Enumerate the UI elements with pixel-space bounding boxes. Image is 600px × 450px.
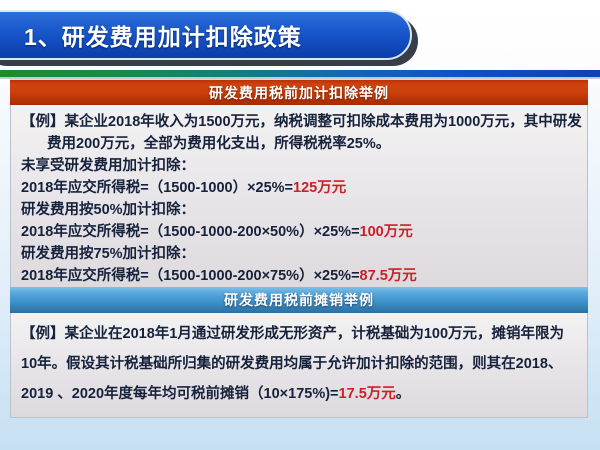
amortization-content-panel: 【例】某企业在2018年1月通过研发形成无形资产，计税基础为100万元，摊销年限… [10, 313, 588, 418]
section-header-deduction: 研发费用税前加计扣除举例 [10, 79, 588, 105]
section-header-amortization-label: 研发费用税前摊销举例 [224, 290, 374, 310]
amortization-formula-text: 2019 、2020年度每年均可税前摊销（10×175%)= [21, 386, 339, 402]
deduction-line-50-label: 研发费用按50%加计扣除： [21, 199, 579, 221]
deduction-formula-50: 2018年应交所得税=（1500-1000-200×50%）×25%=100万元 [21, 221, 579, 243]
deduction-line-3: 未享受研发费用加计扣除： [21, 155, 579, 177]
deduction-formula-none: 2018年应交所得税=（1500-1000）×25%=125万元 [21, 177, 579, 199]
deduction-formula-75: 2018年应交所得税=（1500-1000-200×75%）×25%=87.5万… [21, 265, 579, 287]
section-deduction-example: 研发费用税前加计扣除举例 【例】某企业2018年收入为1500万元，纳税调整可扣… [10, 79, 588, 295]
deduction-formula-none-text: 2018年应交所得税=（1500-1000）×25%= [21, 180, 293, 196]
gradient-divider [0, 70, 600, 77]
section-amortization-example: 研发费用税前摊销举例 【例】某企业在2018年1月通过研发形成无形资产，计税基础… [10, 287, 588, 418]
deduction-content-panel: 【例】某企业2018年收入为1500万元，纳税调整可扣除成本费用为1000万元，… [10, 105, 588, 295]
section-header-deduction-label: 研发费用税前加计扣除举例 [209, 83, 389, 103]
amortization-line-3: 2019 、2020年度每年均可税前摊销（10×175%)=17.5万元。 [21, 379, 579, 409]
deduction-result-50: 100万元 [360, 224, 413, 240]
page-title: 1、研发费用加计扣除政策 [24, 18, 302, 52]
deduction-formula-75-text: 2018年应交所得税=（1500-1000-200×75%）×25%= [21, 268, 360, 284]
deduction-formula-50-text: 2018年应交所得税=（1500-1000-200×50%）×25%= [21, 224, 360, 240]
deduction-result-75: 87.5万元 [360, 268, 417, 284]
deduction-result-none: 125万元 [293, 180, 346, 196]
title-capsule-body: 1、研发费用加计扣除政策 [0, 10, 412, 60]
deduction-line-1: 【例】某企业2018年收入为1500万元，纳税调整可扣除成本费用为1000万元，… [21, 111, 579, 133]
deduction-line-2: 费用200万元，全部为费用化支出，所得税税率25%。 [21, 133, 579, 155]
slide-title-capsule: 1、研发费用加计扣除政策 [0, 10, 412, 60]
deduction-line-75-label: 研发费用按75%加计扣除： [21, 243, 579, 265]
amortization-line-2: 10年。假设其计税基础所归集的研发费用均属于允许加计扣除的范围，则其在2018、 [21, 349, 579, 379]
amortization-line-1: 【例】某企业在2018年1月通过研发形成无形资产，计税基础为100万元，摊销年限… [21, 319, 579, 349]
amortization-line-terminator: 。 [396, 386, 411, 402]
section-header-amortization: 研发费用税前摊销举例 [10, 287, 588, 313]
amortization-result: 17.5万元 [339, 386, 396, 402]
